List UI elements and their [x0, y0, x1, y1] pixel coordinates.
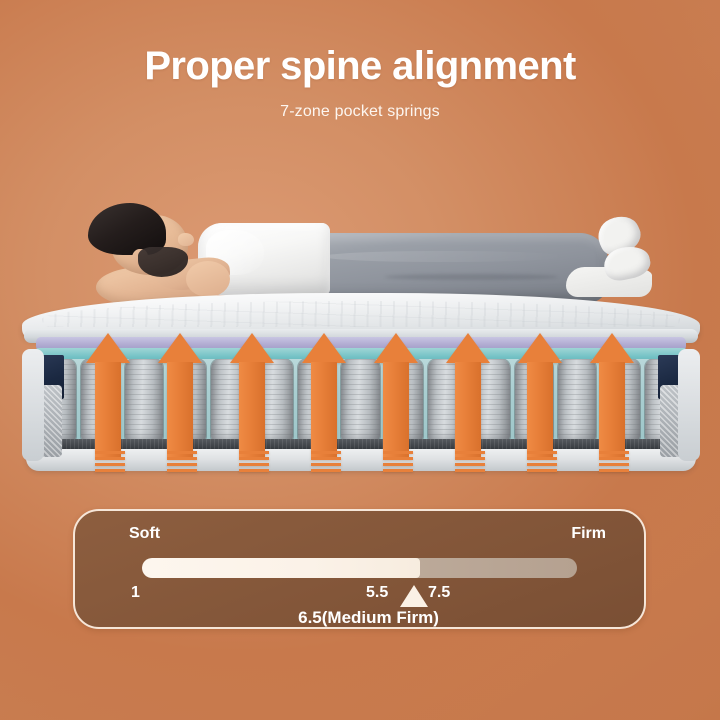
- pocket-spring: [255, 359, 293, 443]
- firmness-value-label: 6.5(Medium Firm): [75, 608, 644, 628]
- header: Proper spine alignment 7-zone pocket spr…: [0, 44, 720, 121]
- pocket-spring: [81, 359, 119, 443]
- firmness-tick-low: 5.5: [366, 584, 388, 602]
- pocket-spring: [515, 359, 553, 443]
- mattress-edge-rail-left: [22, 349, 44, 461]
- pocket-spring: [211, 359, 249, 443]
- firmness-firm-label: Firm: [571, 525, 606, 543]
- pocket-spring: [471, 359, 509, 443]
- pocket-spring: [341, 359, 379, 443]
- firmness-tick-high: 7.5: [428, 584, 450, 602]
- mattress-pocket-spring-layer: [36, 359, 686, 443]
- product-illustration: [0, 175, 720, 475]
- firmness-slider-fill: [142, 558, 420, 578]
- firmness-tick-min: 1: [131, 584, 140, 602]
- firmness-scale-card: Soft Firm 1 5.5 7.5 6.5(Medium Firm): [73, 509, 646, 629]
- page-subtitle: 7-zone pocket springs: [0, 103, 720, 121]
- mattress-edge-rail-right: [678, 349, 700, 461]
- pocket-spring: [428, 359, 466, 443]
- person-nose: [178, 233, 194, 246]
- pocket-spring: [601, 359, 639, 443]
- pocket-spring: [125, 359, 163, 443]
- person-shoulder: [186, 261, 230, 297]
- page-title: Proper spine alignment: [0, 44, 720, 89]
- firmness-value-marker-triangle: [400, 585, 428, 607]
- mattress-base-foundation: [26, 449, 696, 471]
- pocket-spring: [298, 359, 336, 443]
- firmness-soft-label: Soft: [129, 525, 160, 543]
- pocket-spring: [385, 359, 423, 443]
- pocket-spring: [168, 359, 206, 443]
- firmness-endpoint-labels: Soft Firm: [75, 525, 644, 547]
- mattress-cross-section: [22, 293, 700, 475]
- firmness-slider-track[interactable]: [142, 558, 577, 578]
- pocket-spring: [558, 359, 596, 443]
